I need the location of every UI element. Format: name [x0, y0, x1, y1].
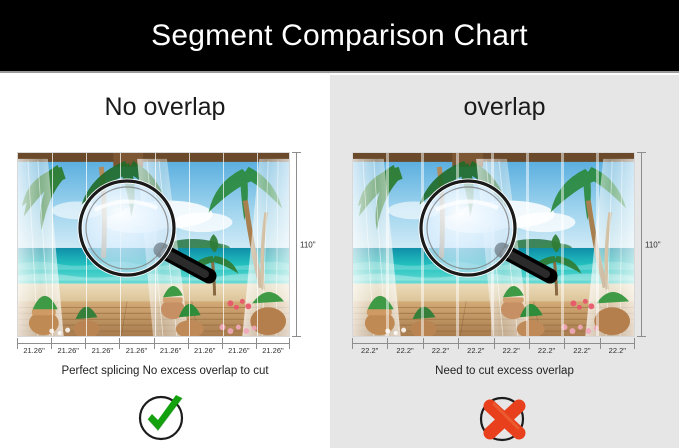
panel-heading-no-overlap: No overlap — [0, 93, 330, 122]
verdict-no-overlap — [0, 392, 330, 444]
segment-width-label: 21.26" — [119, 346, 153, 355]
cross-mark-icon — [474, 392, 536, 444]
segment-width-label: 21.26" — [85, 346, 119, 355]
segment-width-label: 21.26" — [188, 346, 222, 355]
segment-width-label: 21.26" — [17, 346, 51, 355]
page-title: Segment Comparison Chart — [151, 19, 528, 53]
segment-width-label: 22.2" — [564, 346, 599, 355]
panel-heading-overlap: overlap — [330, 93, 679, 122]
verdict-overlap — [330, 392, 679, 444]
panel-caption-overlap: Need to cut excess overlap — [330, 365, 679, 377]
height-label: 110" — [300, 240, 316, 249]
mural-image-no-overlap — [17, 152, 290, 337]
segment-width-label: 22.2" — [600, 346, 635, 355]
panel-caption-no-overlap: Perfect splicing No excess overlap to cu… — [0, 365, 330, 377]
height-ruler-overlap: 110" — [637, 152, 659, 337]
segment-width-label: 22.2" — [529, 346, 564, 355]
comparison-chart-root: Segment Comparison Chart No overlap — [0, 0, 679, 448]
chart-header: Segment Comparison Chart — [0, 0, 679, 73]
segment-width-label: 22.2" — [352, 346, 387, 355]
panel-no-overlap: No overlap — [0, 75, 330, 448]
mural-figure-overlap — [352, 152, 635, 337]
mural-figure-no-overlap — [17, 152, 290, 337]
segment-width-label: 21.26" — [51, 346, 85, 355]
segment-width-labels-no-overlap: 21.26" 21.26" 21.26" 21.26" 21.26" 21.26… — [17, 346, 290, 355]
height-label: 110" — [645, 240, 661, 249]
segment-width-label: 22.2" — [458, 346, 493, 355]
panels-container: No overlap — [0, 75, 679, 448]
segment-width-label: 21.26" — [154, 346, 188, 355]
segment-width-label: 21.26" — [222, 346, 256, 355]
mural-image-overlap — [352, 152, 635, 337]
segment-width-label: 22.2" — [387, 346, 422, 355]
segment-width-labels-overlap: 22.2" 22.2" 22.2" 22.2" 22.2" 22.2" 22.2… — [352, 346, 635, 355]
panel-overlap: overlap — [330, 75, 679, 448]
segment-width-label: 22.2" — [494, 346, 529, 355]
segment-width-label: 22.2" — [423, 346, 458, 355]
height-ruler-no-overlap: 110" — [292, 152, 314, 337]
check-mark-icon — [135, 392, 195, 444]
segment-width-label: 21.26" — [256, 346, 290, 355]
